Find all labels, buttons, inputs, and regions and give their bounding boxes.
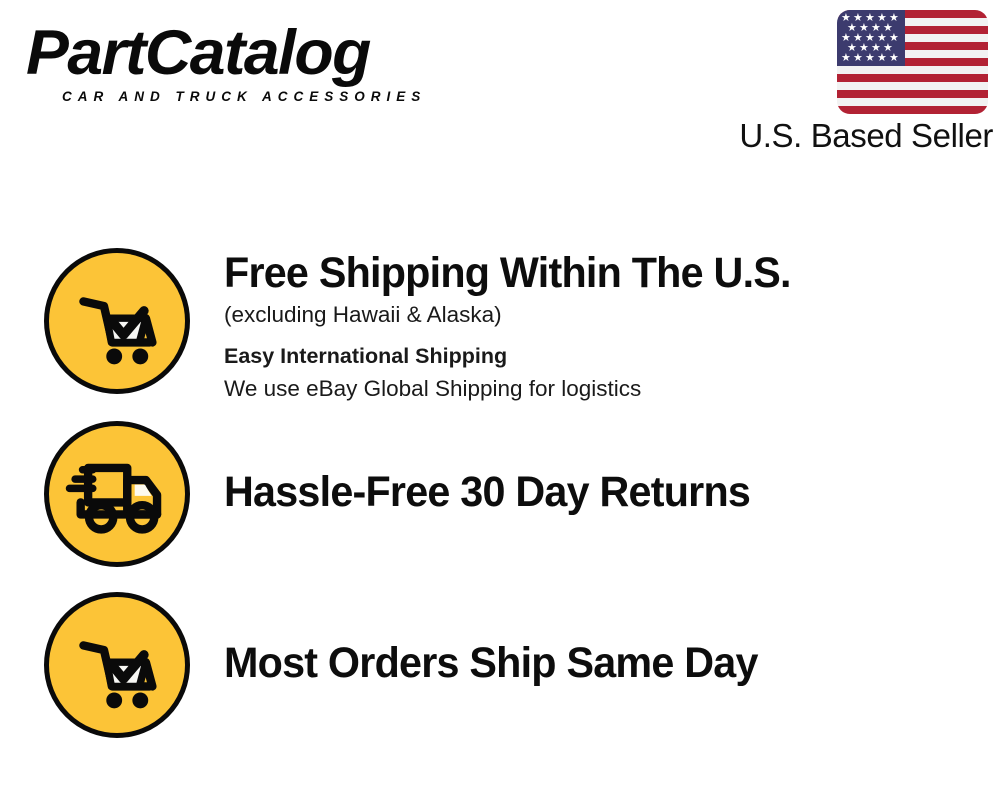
feature-text-block: Free Shipping Within The U.S. (excluding… bbox=[224, 248, 984, 405]
brand-wordmark: PartCatalog bbox=[26, 18, 505, 88]
flag-stripe bbox=[837, 66, 988, 74]
flag-stripe bbox=[837, 90, 988, 98]
flag-star: ★ bbox=[877, 53, 887, 64]
brand-logo: PartCatalog CAR AND TRUCK ACCESSORIES bbox=[26, 18, 496, 114]
feature-heading: Free Shipping Within The U.S. bbox=[224, 248, 954, 298]
flag-star: ★ bbox=[865, 53, 875, 64]
feature-subtext: We use eBay Global Shipping for logistic… bbox=[224, 373, 984, 405]
flag-stripe bbox=[837, 106, 988, 114]
feature-subheading: Easy International Shipping bbox=[224, 340, 984, 372]
feature-heading: Hassle-Free 30 Day Returns bbox=[224, 467, 954, 517]
flag-stripe bbox=[837, 82, 988, 90]
feature-text-block: Most Orders Ship Same Day bbox=[224, 638, 984, 688]
flag-star: ★ bbox=[853, 53, 863, 64]
shopping-cart-check-icon bbox=[44, 592, 190, 738]
flag-canton: ★ ★ ★ ★ ★ ★ ★ ★ ★ ★ ★ ★ ★ ★ ★ ★ ★ ★ ★ ★ … bbox=[837, 10, 905, 66]
flag-stripe bbox=[837, 98, 988, 106]
brand-tagline: CAR AND TRUCK ACCESSORIES bbox=[62, 89, 496, 104]
flag-star: ★ bbox=[841, 53, 851, 64]
delivery-truck-icon bbox=[44, 421, 190, 567]
feature-heading: Most Orders Ship Same Day bbox=[224, 638, 954, 688]
us-flag-icon: ★ ★ ★ ★ ★ ★ ★ ★ ★ ★ ★ ★ ★ ★ ★ ★ ★ ★ ★ ★ … bbox=[837, 10, 988, 114]
feature-text-block: Hassle-Free 30 Day Returns bbox=[224, 467, 984, 517]
feature-subnote: (excluding Hawaii & Alaska) bbox=[224, 299, 984, 331]
us-based-seller-label: U.S. Based Seller bbox=[723, 117, 993, 155]
flag-star: ★ bbox=[889, 53, 899, 64]
shopping-cart-check-icon bbox=[44, 248, 190, 394]
flag-stripe bbox=[837, 74, 988, 82]
